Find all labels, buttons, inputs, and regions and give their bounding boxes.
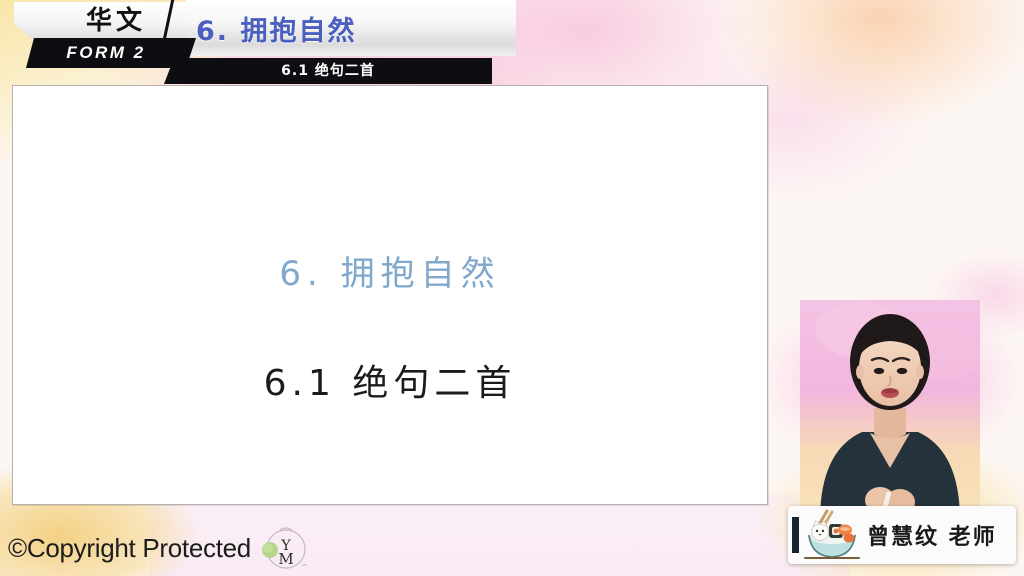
slide-screenshot: 华文 FORM 2 6. 拥抱自然 6.1 绝句二首 6. 拥抱自然 6.1 绝…	[0, 0, 1024, 576]
name-plate-accent-bar	[792, 517, 799, 553]
copyright-label: ©Copyright Protected	[8, 533, 251, 564]
chapter-title: 6. 拥抱自然	[196, 9, 496, 48]
svg-text:M: M	[278, 550, 293, 568]
slide-main-title: 6. 拥抱自然	[13, 246, 767, 295]
section-title: 6.1 绝句二首	[164, 58, 492, 84]
presenter-webcam-feed	[800, 300, 980, 515]
teacher-name-label: 曾慧纹 老师	[867, 519, 997, 551]
ym-circle-logo-icon: Y M	[259, 522, 311, 574]
slide-content-panel: 6. 拥抱自然 6.1 绝句二首	[12, 85, 768, 505]
form-badge-label: FORM 2	[26, 38, 186, 68]
copyright-footer: ©Copyright Protected Y M	[8, 522, 311, 574]
subject-logo-label: 华文	[56, 6, 176, 36]
header: 华文 FORM 2 6. 拥抱自然 6.1 绝句二首	[0, 0, 560, 88]
teacher-name-plate: 曾慧纹 老师	[788, 506, 1016, 564]
rice-bowl-chopsticks-icon	[801, 508, 863, 562]
slide-sub-title: 6.1 绝句二首	[13, 354, 767, 406]
